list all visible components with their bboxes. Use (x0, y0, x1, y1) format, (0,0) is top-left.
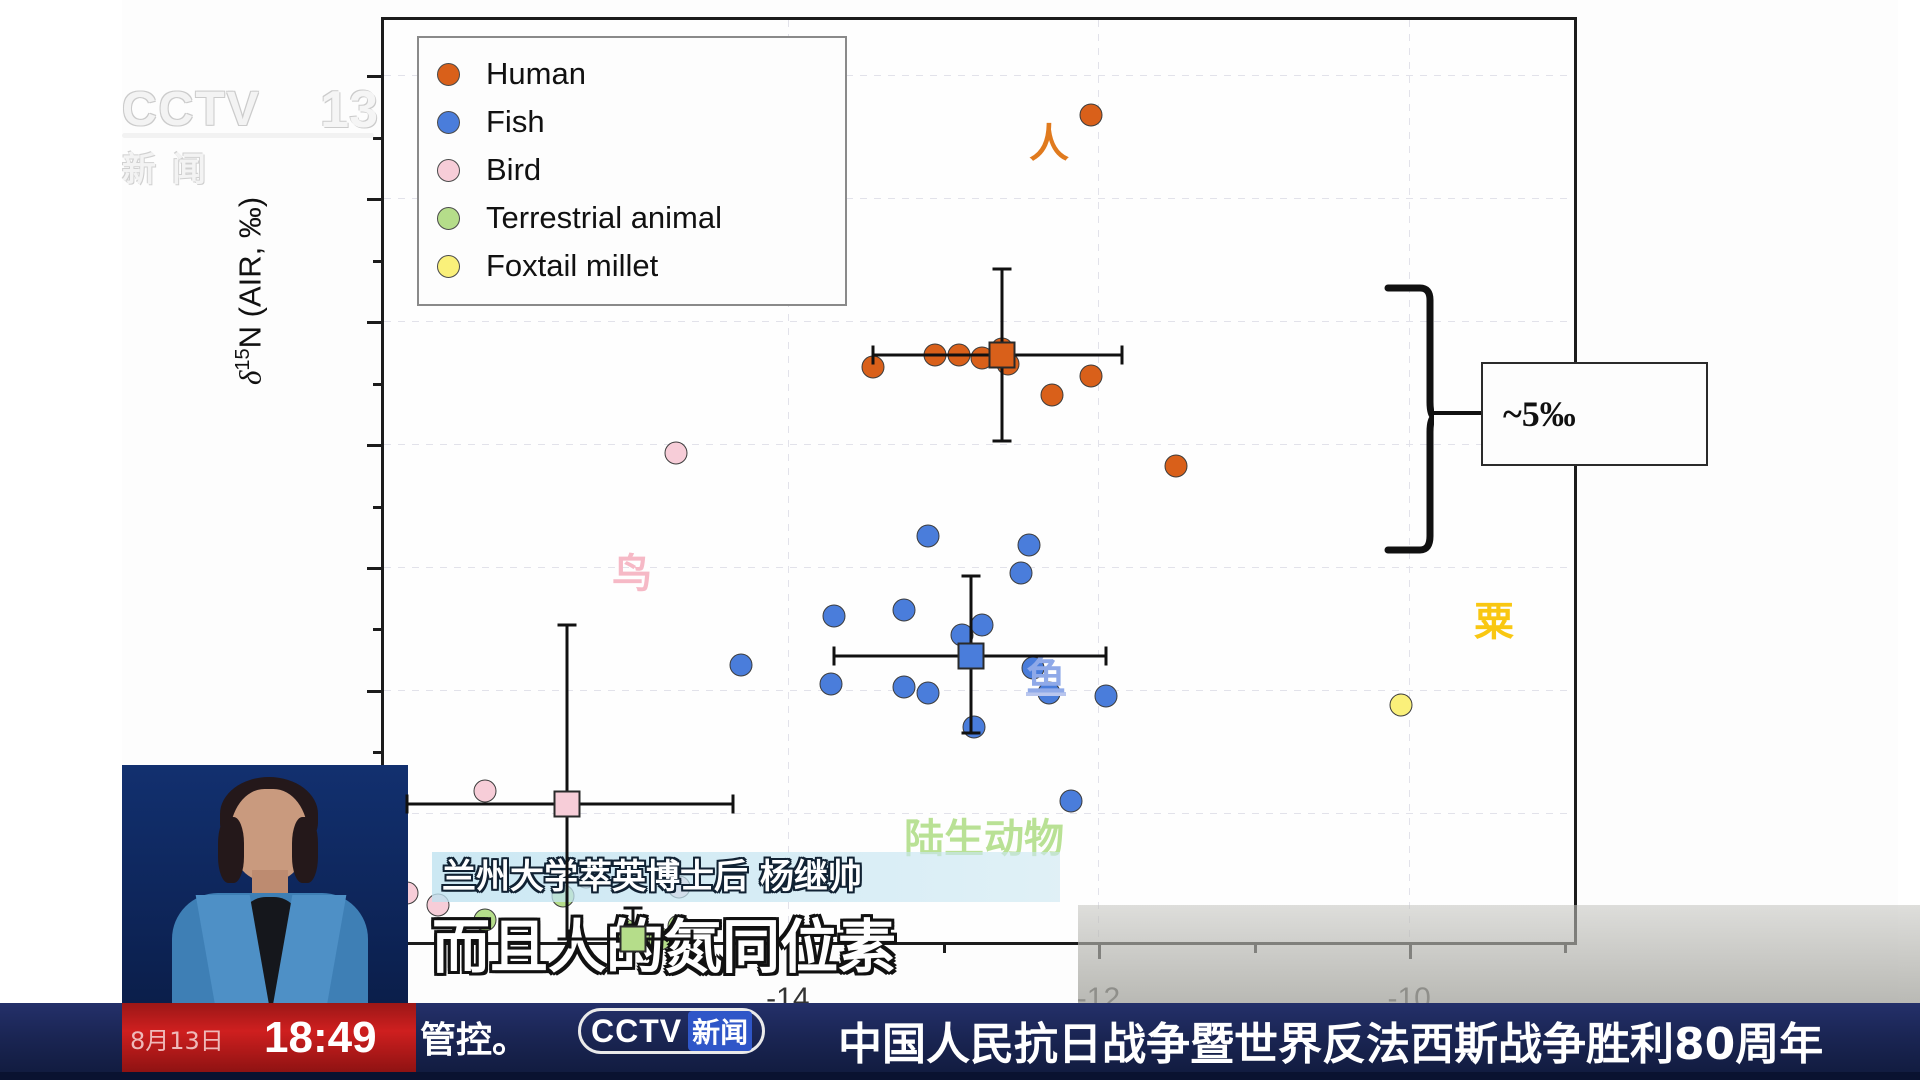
data-point-fish (971, 614, 994, 637)
error-bar-cap (962, 575, 981, 578)
ticker-time: 18:49 (252, 1013, 377, 1063)
legend-swatch-bird (437, 159, 460, 182)
subtitle-caption: 而且人的氮同位素 (432, 900, 896, 984)
cctv-channel-logo: CCTV 13 新闻 (122, 82, 374, 186)
data-point-human (1040, 383, 1063, 406)
x-tick-mark-minor (943, 942, 946, 953)
legend-label-fish: Fish (486, 104, 545, 140)
range-brace-icon (1384, 284, 1434, 554)
callout-connector (1434, 411, 1482, 415)
y-tick-mark-minor (373, 383, 384, 386)
legend-item: Foxtail millet (437, 242, 827, 290)
screen: 8101214161820-14-12-10 人 鱼 鸟 陆生动物 粟 δ15N… (0, 0, 1920, 1080)
y-tick-mark-minor (373, 506, 384, 509)
ticker-logo-cctv: CCTV (591, 1013, 682, 1050)
anchor-hair-right (292, 817, 318, 883)
legend-label-millet: Foxtail millet (486, 248, 658, 284)
mean-marker-fish (958, 643, 985, 670)
error-bar-vertical (566, 625, 569, 938)
data-point-fish (1009, 562, 1032, 585)
error-bar-cap (993, 439, 1012, 442)
error-bar-cap (569, 929, 572, 948)
error-bar-cap (833, 647, 836, 666)
data-point-human (1165, 454, 1188, 477)
error-bar-cap (872, 345, 875, 364)
data-point-bird (665, 442, 688, 465)
y-tick-mark (367, 690, 384, 693)
y-tick-mark (367, 444, 384, 447)
speaker-name-text: 兰州大学萃英博士后 杨继帅 (432, 857, 862, 897)
video-fade-band (1078, 905, 1920, 1003)
data-point-fish (893, 675, 916, 698)
error-bar-cap (732, 794, 735, 813)
anchor-hair-left (218, 817, 244, 883)
legend-item: Terrestrial animal (437, 194, 827, 242)
data-point-human (1079, 104, 1102, 127)
data-point-fish (963, 715, 986, 738)
right-margin (1898, 0, 1920, 1003)
ticker-clock: 8月13日 18:49 (122, 1003, 416, 1073)
legend-item: Bird (437, 146, 827, 194)
cctv-channel-name: 新闻 (122, 142, 374, 191)
mean-marker-human (989, 341, 1016, 368)
y-tick-mark (367, 198, 384, 201)
data-point-human (1079, 365, 1102, 388)
logo-underbar (122, 133, 374, 138)
legend-label-terrestrial: Terrestrial animal (486, 200, 722, 236)
y-tick-mark (367, 75, 384, 78)
data-point-fish (916, 681, 939, 704)
cctv-wordmark: CCTV (122, 82, 374, 137)
error-bar-cap (406, 794, 409, 813)
gridline-horizontal (384, 690, 1574, 691)
y-tick-mark (367, 567, 384, 570)
gridline-horizontal (384, 567, 1574, 568)
group-label-human: 人 (1029, 111, 1069, 169)
data-point-foxtail-millet (1390, 694, 1413, 717)
legend-item: Human (437, 50, 827, 98)
y-tick-mark-minor (373, 260, 384, 263)
data-point-bird (473, 780, 496, 803)
y-axis-label: δ15N (AIR, ‰) (232, 197, 268, 385)
y-tick-mark (367, 321, 384, 324)
callout-text: ~5‰ (1483, 393, 1576, 435)
error-bar-cap (962, 731, 981, 734)
mean-marker-bird (554, 790, 581, 817)
bottom-strip (0, 1072, 1920, 1080)
chart-legend: Human Fish Bird Terrestrial animal Foxta… (417, 36, 847, 306)
y-tick-mark-minor (373, 628, 384, 631)
data-point-fish (820, 672, 843, 695)
delta-symbol: δ (232, 371, 267, 385)
callout-box: ~5‰ (1481, 362, 1708, 466)
error-bar-cap (690, 929, 693, 948)
left-margin (0, 0, 122, 1080)
mean-marker-terrestrial-animal (619, 925, 646, 952)
legend-swatch-millet (437, 255, 460, 278)
group-label-millet: 粟 (1474, 589, 1514, 647)
data-point-fish (1017, 534, 1040, 557)
y-axis-superscript: 15 (232, 348, 254, 370)
cctv-channel-number: 13 (320, 80, 378, 140)
ticker-caption-tail: 管控。 (420, 1011, 528, 1063)
gridline-vertical (1098, 20, 1099, 942)
ticker-date: 8月13日 (122, 1021, 252, 1056)
legend-swatch-human (437, 63, 460, 86)
error-bar-cap (1120, 345, 1123, 364)
y-tick-mark-minor (373, 751, 384, 754)
data-point-fish (1095, 685, 1118, 708)
error-bar-cap (993, 267, 1012, 270)
legend-label-bird: Bird (486, 152, 541, 188)
error-bar-cap (1105, 647, 1108, 666)
error-bar-cap (558, 624, 577, 627)
data-point-fish (893, 598, 916, 621)
group-label-bird: 鸟 (612, 541, 652, 599)
y-tick-mark-minor (373, 137, 384, 140)
legend-item: Fish (437, 98, 827, 146)
ticker-headline: 中国人民抗日战争暨世界反法西斯战争胜利80周年 (838, 1008, 1823, 1072)
ticker-logo-news: 新闻 (688, 1011, 752, 1051)
data-point-fish (916, 525, 939, 548)
news-anchor-video (122, 765, 408, 1035)
data-point-fish (730, 654, 753, 677)
error-bar-cap (623, 907, 642, 910)
legend-label-human: Human (486, 56, 586, 92)
y-axis-label-text: N (AIR, ‰) (232, 197, 267, 349)
data-point-fish (823, 605, 846, 628)
legend-swatch-fish (437, 111, 460, 134)
ticker-cctv-news-logo: CCTV 新闻 (578, 1008, 765, 1054)
lower-third-banner: 兰州大学萃英博士后 杨继帅 (432, 852, 1060, 902)
group-label-fish: 鱼 (1026, 644, 1066, 702)
legend-swatch-terrestrial (437, 207, 460, 230)
